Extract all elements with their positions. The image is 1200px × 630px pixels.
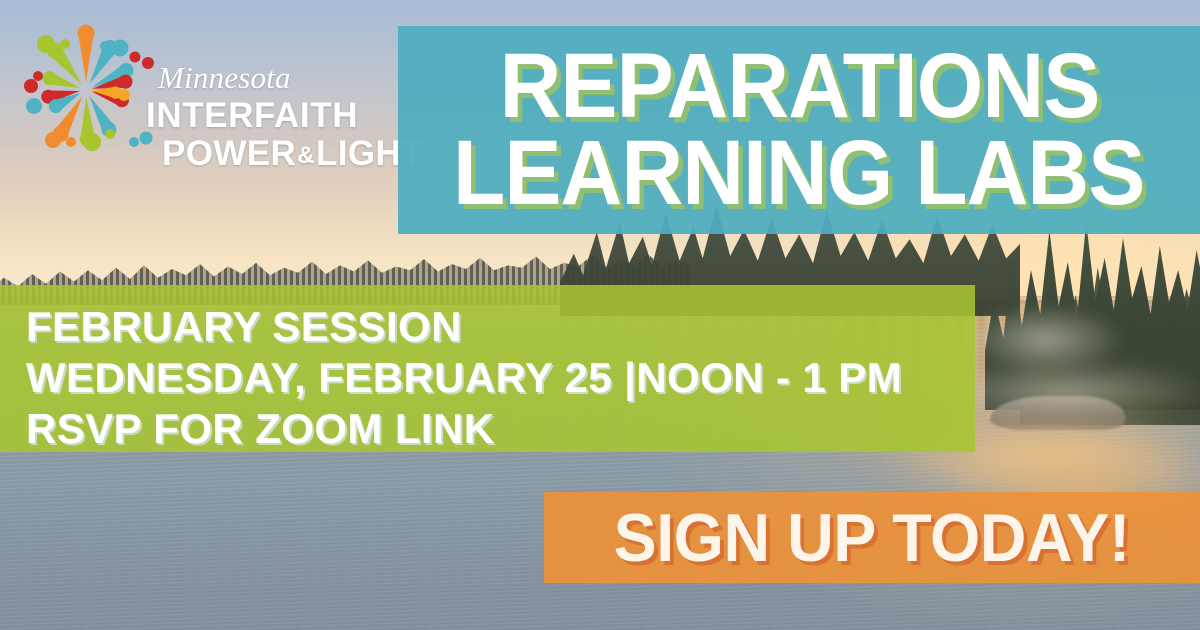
cta-label: SIGN UP TODAY!	[614, 499, 1130, 577]
starburst-icon	[18, 18, 158, 168]
session-details: FEBRUARY SESSION WEDNESDAY, FEBRUARY 25 …	[0, 285, 975, 452]
headline-line-2: LEARNING LABS	[453, 130, 1144, 217]
headline-text: REPARATIONS LEARNING LABS	[398, 26, 1200, 234]
logo-wordmark: Minnesota INTERFAITH POWER&LIGHT	[146, 62, 423, 172]
promotional-poster: Minnesota INTERFAITH POWER&LIGHT REPARAT…	[0, 0, 1200, 630]
logo-name-power-light: POWER&LIGHT	[162, 135, 423, 172]
logo-ampersand: &	[296, 142, 316, 169]
logo-name-interfaith: INTERFAITH	[146, 97, 423, 134]
details-line-session: FEBRUARY SESSION	[26, 301, 975, 352]
sign-up-today-button[interactable]: SIGN UP TODAY!	[544, 492, 1200, 583]
logo-state-name: Minnesota	[158, 62, 423, 93]
details-line-datetime: WEDNESDAY, FEBRUARY 25 |NOON - 1 PM	[26, 352, 975, 403]
headline-line-1: REPARATIONS	[499, 43, 1099, 130]
logo-word-power: POWER	[162, 134, 296, 173]
organization-logo: Minnesota INTERFAITH POWER&LIGHT	[18, 18, 390, 178]
details-line-rsvp: RSVP FOR ZOOM LINK	[26, 403, 975, 454]
